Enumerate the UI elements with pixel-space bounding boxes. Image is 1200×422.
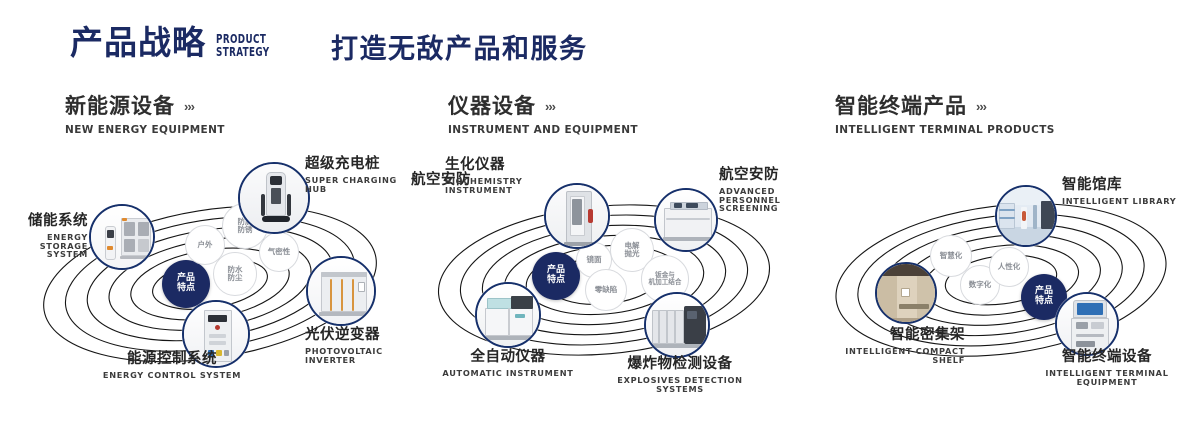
- self-service-kiosk-icon: [1057, 294, 1117, 354]
- node-circle-charging-hub[interactable]: [238, 162, 310, 234]
- feature-center-line2: 特点: [547, 276, 565, 286]
- node-circle-biochemistry[interactable]: [544, 183, 610, 249]
- compact-shelf-icon: [877, 264, 935, 322]
- biochemistry-scanner-icon: [546, 185, 608, 247]
- node-circle-compact-shelf[interactable]: [875, 262, 937, 324]
- node-circle-personnel-screening[interactable]: [654, 188, 718, 252]
- node-label-en: BIOCHEMISTRY INSTRUMENT: [445, 177, 523, 195]
- chevron-right-triple-icon: ›››: [976, 100, 986, 113]
- node-label-cn: 全自动仪器: [428, 350, 588, 366]
- node-label-cn: 智能馆库: [1062, 178, 1176, 194]
- node-label-cn: 智能终端设备: [1017, 350, 1197, 366]
- page-tagline: 打造无敌产品和服务: [331, 36, 588, 63]
- section-heading-instrument: 仪器设备 ››› INSTRUMENT AND EQUIPMENT: [448, 96, 638, 136]
- section-title-cn: 智能终端产品: [835, 96, 967, 117]
- orbit-cluster-instrument: 产品 特点 镜面 电解 抛光 零缺陷 钣金与 机加工结合 航空安防 生化仪器 B…: [408, 152, 808, 402]
- node-label-en: EXPLOSIVES DETECTION SYSTEMS: [600, 376, 760, 394]
- node-label-energy-control: 能源控制系统 ENERGY CONTROL SYSTEM: [82, 352, 262, 380]
- node-label-automatic-instrument: 全自动仪器 AUTOMATIC INSTRUMENT: [428, 350, 588, 378]
- node-circle-intelligent-library[interactable]: [995, 185, 1057, 247]
- node-label-cn: 储能系统: [0, 214, 88, 230]
- node-label-en: ENERGY CONTROL SYSTEM: [82, 371, 262, 380]
- feature-bubble: 零缺陷: [585, 269, 627, 311]
- node-circle-explosives-detection[interactable]: [644, 292, 710, 358]
- feature-bubble: 防水 防尘: [213, 252, 257, 296]
- feature-bubble: 人性化: [989, 247, 1029, 287]
- energy-storage-cabinet-icon: [91, 206, 153, 268]
- library-room-icon: [997, 187, 1055, 245]
- section-title-en: INSTRUMENT AND EQUIPMENT: [448, 124, 638, 136]
- node-label-en: ENERGY STORAGE SYSTEM: [0, 233, 88, 260]
- node-label-en: INTELLIGENT TERMINAL EQUIPMENT: [1017, 369, 1197, 387]
- product-strategy-infographic: 产品战略 PRODUCT STRATEGY 打造无敌产品和服务 新能源设备 ››…: [0, 0, 1200, 422]
- screening-machine-icon: [656, 190, 716, 250]
- section-title-en: INTELLIGENT TERMINAL PRODUCTS: [835, 124, 1055, 136]
- node-label-pv-inverter: 光伏逆变器 PHOTOVOLTAIC INVERTER: [305, 328, 410, 364]
- node-label-personnel-screening: 航空安防 ADVANCED PERSONNEL SCREENING: [719, 168, 808, 213]
- node-label-cn: 超级充电桩: [305, 157, 410, 173]
- feature-bubble: 气密性: [259, 232, 299, 272]
- node-label-biochemistry: 生化仪器 BIOCHEMISTRY INSTRUMENT: [445, 158, 523, 194]
- node-label-energy-storage: 储能系统 ENERGY STORAGE SYSTEM: [0, 214, 88, 259]
- pv-inverter-cabinet-icon: [308, 258, 374, 324]
- chevron-right-triple-icon: ›››: [545, 100, 555, 113]
- feature-center-badge: 产品 特点: [532, 252, 580, 300]
- section-title-cn: 新能源设备: [65, 96, 175, 117]
- node-label-en: SUPER CHARGING HUB: [305, 176, 410, 194]
- page-title-en: PRODUCT STRATEGY: [216, 32, 270, 58]
- node-label-cn: 爆炸物检测设备: [600, 357, 760, 373]
- automatic-analyzer-icon: [477, 284, 539, 346]
- node-label-cn: 能源控制系统: [82, 352, 262, 368]
- chevron-right-triple-icon: ›››: [184, 100, 194, 113]
- orbit-cluster-new-energy: 产品 特点 户外 防腐 防锈 防水 防尘 气密性 储能系统 ENERGY: [10, 152, 410, 402]
- section-title-cn: 仪器设备: [448, 96, 536, 117]
- node-label-cn: 光伏逆变器: [305, 328, 410, 344]
- node-label-charging-hub: 超级充电桩 SUPER CHARGING HUB: [305, 157, 410, 193]
- section-heading-intelligent-terminal: 智能终端产品 ››› INTELLIGENT TERMINAL PRODUCTS: [835, 96, 1055, 136]
- feature-center-badge: 产品 特点: [162, 260, 210, 308]
- node-label-compact-shelf: 智能密集架 INTELLIGENT COMPACT SHELF: [815, 328, 965, 364]
- charging-pile-icon: [240, 164, 308, 232]
- page-title-cn: 产品战略: [70, 26, 206, 59]
- orbit-cluster-intelligent-terminal: 智慧化 数字化 人性化 产品 特点 智能馆库 INTELLIGENT LIBRA…: [805, 152, 1200, 402]
- node-label-en: PHOTOVOLTAIC INVERTER: [305, 347, 410, 365]
- node-label-en: AUTOMATIC INSTRUMENT: [428, 369, 588, 378]
- node-label-en: INTELLIGENT COMPACT SHELF: [815, 347, 965, 365]
- node-label-explosives-detection: 爆炸物检测设备 EXPLOSIVES DETECTION SYSTEMS: [600, 357, 760, 393]
- feature-center-line2: 特点: [1035, 297, 1053, 307]
- feature-center-line2: 特点: [177, 284, 195, 294]
- section-title-en: NEW ENERGY EQUIPMENT: [65, 124, 225, 136]
- node-label-cn: 生化仪器: [445, 158, 523, 174]
- node-label-terminal-equipment: 智能终端设备 INTELLIGENT TERMINAL EQUIPMENT: [1017, 350, 1197, 386]
- explosives-detector-icon: [646, 294, 708, 356]
- node-circle-terminal-equipment[interactable]: [1055, 292, 1119, 356]
- page-title: 产品战略 PRODUCT STRATEGY: [70, 26, 285, 59]
- node-label-cn: 航空安防: [719, 168, 808, 184]
- node-label-intelligent-library: 智能馆库 INTELLIGENT LIBRARY: [1062, 178, 1176, 206]
- node-label-en: INTELLIGENT LIBRARY: [1062, 197, 1176, 206]
- section-heading-new-energy: 新能源设备 ››› NEW ENERGY EQUIPMENT: [65, 96, 225, 136]
- node-label-en: ADVANCED PERSONNEL SCREENING: [719, 187, 808, 214]
- node-circle-automatic-instrument[interactable]: [475, 282, 541, 348]
- node-circle-pv-inverter[interactable]: [306, 256, 376, 326]
- node-circle-energy-storage[interactable]: [89, 204, 155, 270]
- node-label-cn: 智能密集架: [815, 328, 965, 344]
